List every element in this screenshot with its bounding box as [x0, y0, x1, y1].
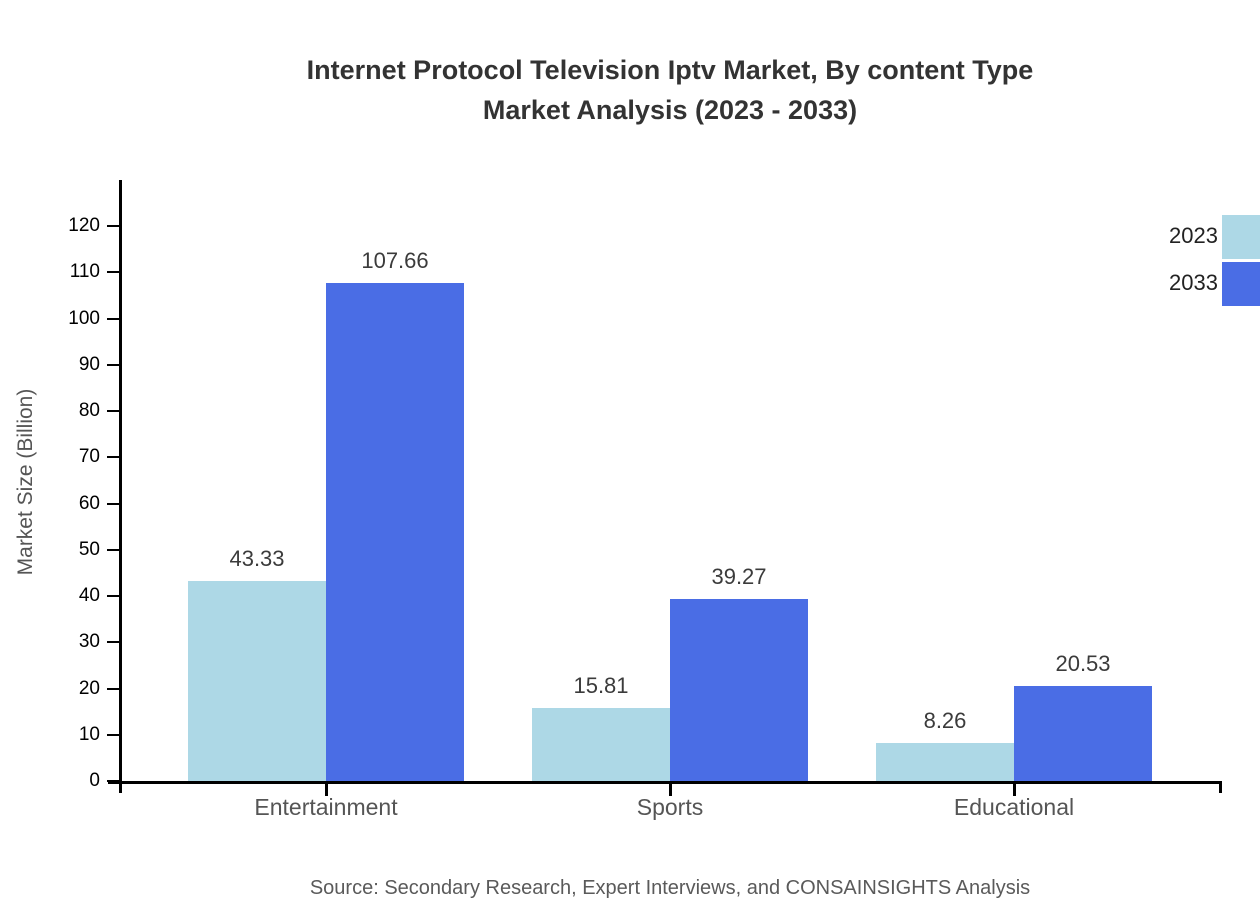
legend-swatch-2033 [1222, 262, 1260, 306]
legend-label-2033: 2033 [1169, 270, 1218, 296]
bar-educational-2033[interactable] [1014, 686, 1152, 781]
bar-value-label-educational-2033: 20.53 [983, 653, 1183, 675]
legend-swatch-2023 [1222, 215, 1260, 259]
plot-area: 0102030405060708090100110120 Entertainme… [0, 0, 1260, 920]
y-tick-label-50: 50 [40, 540, 100, 559]
y-tick-label-10: 10 [40, 725, 100, 744]
y-axis-title: Market Size (Billion) [14, 382, 38, 582]
y-tick-30 [107, 641, 120, 643]
y-tick-20 [107, 688, 120, 690]
y-tick-50 [107, 549, 120, 551]
y-tick-label-100: 100 [40, 309, 100, 328]
y-tick-label-90: 90 [40, 355, 100, 374]
y-tick-110 [107, 271, 120, 273]
source-note: Source: Secondary Research, Expert Inter… [0, 877, 1260, 900]
y-tick-120 [107, 225, 120, 227]
bar-value-label-entertainment-2033: 107.66 [295, 250, 495, 272]
legend-item-2023[interactable]: 2023 [1130, 215, 1260, 262]
bar-sports-2023[interactable] [532, 708, 670, 781]
y-tick-label-60: 60 [40, 494, 100, 513]
y-tick-70 [107, 456, 120, 458]
y-tick-90 [107, 364, 120, 366]
x-axis-label-educational: Educational [864, 794, 1164, 822]
bar-entertainment-2023[interactable] [188, 581, 326, 781]
y-tick-label-20: 20 [40, 679, 100, 698]
x-axis-line [108, 781, 1222, 784]
y-tick-label-30: 30 [40, 632, 100, 651]
bar-value-label-sports-2033: 39.27 [639, 566, 839, 588]
y-tick-10 [107, 734, 120, 736]
legend-item-2033[interactable]: 2033 [1130, 262, 1260, 309]
y-tick-60 [107, 503, 120, 505]
bar-entertainment-2033[interactable] [326, 283, 464, 781]
y-tick-40 [107, 595, 120, 597]
bar-sports-2033[interactable] [670, 599, 808, 781]
x-axis-label-sports: Sports [520, 794, 820, 822]
legend-label-2023: 2023 [1169, 223, 1218, 249]
y-tick-100 [107, 318, 120, 320]
y-tick-0 [107, 780, 120, 782]
y-tick-label-70: 70 [40, 447, 100, 466]
y-tick-label-40: 40 [40, 586, 100, 605]
y-tick-label-110: 110 [40, 262, 100, 281]
x-axis-end-cap [1219, 781, 1222, 793]
legend: 2023 2033 [1130, 215, 1260, 309]
bar-educational-2023[interactable] [876, 743, 1014, 781]
y-axis-end-cap [119, 781, 122, 793]
y-tick-label-80: 80 [40, 401, 100, 420]
y-tick-80 [107, 410, 120, 412]
x-axis-label-entertainment: Entertainment [176, 794, 476, 822]
y-tick-label-0: 0 [40, 771, 100, 790]
y-tick-label-120: 120 [40, 216, 100, 235]
